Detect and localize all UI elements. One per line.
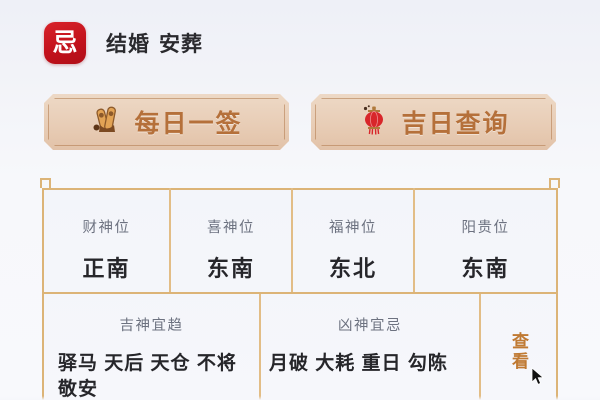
taboo-term-1: 结婚 bbox=[106, 33, 150, 56]
taboo-term-list: 结婚安葬 bbox=[106, 28, 212, 58]
daily-draw-label: 每日一签 bbox=[134, 104, 242, 140]
cell-inauspicious-spirits: 凶神宜忌 月破 大耗 重日 勾陈 bbox=[261, 314, 479, 377]
almanac-info-table: 财神位 正南 喜神位 东南 福神位 东北 阳贵位 东南 吉神宜趋 驿马 天后 天… bbox=[42, 188, 558, 400]
cell-title: 吉神宜趋 bbox=[120, 314, 184, 335]
cell-title: 财神位 bbox=[83, 216, 131, 237]
auspicious-day-search-label: 吉日查询 bbox=[401, 104, 509, 140]
taboo-term-2: 安葬 bbox=[159, 33, 203, 56]
cell-yang-noble: 阳贵位 东南 bbox=[415, 216, 556, 283]
view-more-button[interactable]: 查看 bbox=[481, 294, 556, 400]
cell-auspicious-spirits: 吉神宜趋 驿马 天后 天仓 不将 敬安 bbox=[44, 314, 259, 400]
view-more-label: 查看 bbox=[510, 332, 527, 372]
cell-value: 月破 大耗 重日 勾陈 bbox=[261, 351, 479, 377]
cell-title: 喜神位 bbox=[207, 216, 255, 237]
cell-fortune-god: 福神位 东北 bbox=[293, 216, 413, 283]
cell-value: 东南 bbox=[207, 251, 255, 283]
cell-wealth-god: 财神位 正南 bbox=[44, 216, 169, 283]
cell-joy-god: 喜神位 东南 bbox=[171, 216, 291, 283]
cell-value: 东北 bbox=[329, 251, 377, 283]
cell-value: 正南 bbox=[82, 251, 130, 283]
daily-draw-button[interactable]: 每日一签 bbox=[44, 94, 289, 150]
fortune-sticks-icon bbox=[90, 103, 124, 142]
bottom-fade bbox=[0, 396, 600, 400]
cell-title: 阳贵位 bbox=[462, 216, 510, 237]
auspicious-day-search-button[interactable]: 吉日查询 bbox=[311, 94, 556, 150]
red-lantern-icon bbox=[357, 103, 391, 142]
ji-avoid-badge: 忌 bbox=[44, 22, 86, 64]
cell-value: 东南 bbox=[461, 251, 509, 283]
cell-value: 驿马 天后 天仓 不将 敬安 bbox=[44, 351, 259, 400]
cell-title: 凶神宜忌 bbox=[338, 314, 402, 335]
cell-title: 福神位 bbox=[329, 216, 377, 237]
taboo-header: 忌 结婚安葬 bbox=[44, 22, 212, 64]
action-button-row: 每日一签 吉日查询 bbox=[0, 94, 600, 150]
